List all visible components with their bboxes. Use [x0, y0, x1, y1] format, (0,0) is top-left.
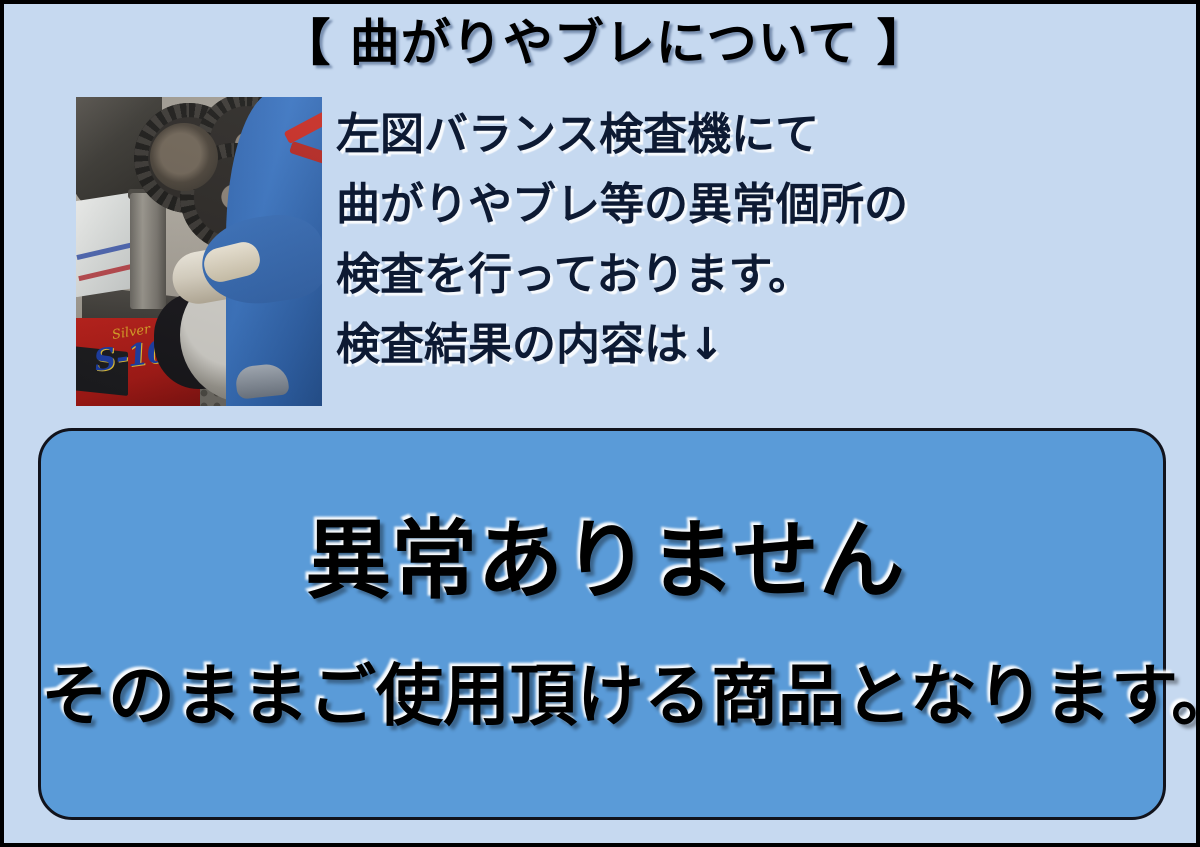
inspection-photo: Silver S-10 — [76, 97, 322, 406]
result-callout-box: 異常ありません そのままご使用頂ける商品となります。 — [38, 428, 1166, 820]
intro-line-1: 左図バランス検査機にて — [336, 100, 1156, 170]
photo-vignette — [76, 97, 322, 406]
page-title: 【 曲がりやブレについて 】 — [4, 12, 1200, 74]
intro-line-3: 検査を行っております。 — [336, 240, 1156, 310]
intro-line-4: 検査結果の内容は↓ — [336, 310, 1156, 380]
intro-line-2: 曲がりやブレ等の異常個所の — [336, 170, 1156, 240]
notice-page: 【 曲がりやブレについて 】 Silver S-10 — [0, 0, 1200, 847]
result-detail: そのままご使用頂ける商品となります。 — [41, 653, 1169, 739]
intro-paragraph: 左図バランス検査機にて 曲がりやブレ等の異常個所の 検査を行っております。 検査… — [336, 100, 1156, 380]
result-headline: 異常ありません — [41, 509, 1169, 613]
